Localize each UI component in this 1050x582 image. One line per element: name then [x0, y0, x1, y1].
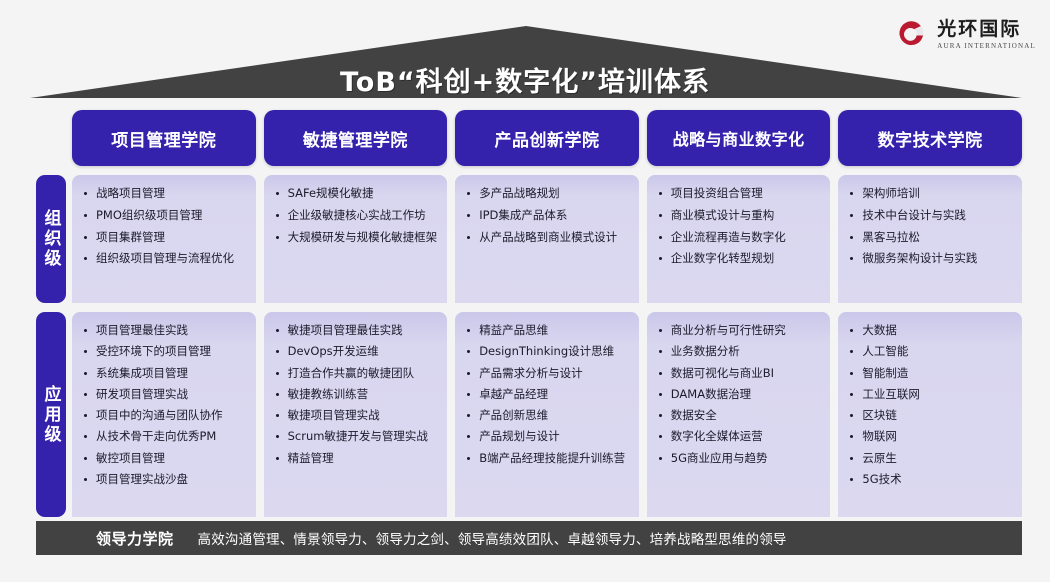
- course-item[interactable]: 项目投资组合管理: [657, 185, 825, 202]
- aura-swoosh-icon: [895, 18, 929, 52]
- academy-title-1[interactable]: 敏捷管理学院: [264, 110, 448, 166]
- org-panel-0: 战略项目管理PMO组织级项目管理项目集群管理组织级项目管理与流程优化: [72, 175, 256, 303]
- course-item[interactable]: 项目集群管理: [82, 229, 250, 246]
- course-item[interactable]: 业务数据分析: [657, 343, 825, 360]
- org-cell-1: SAFe规模化敏捷企业级敏捷核心实战工作坊大规模研发与规模化敏捷框架: [264, 175, 448, 303]
- brand-logo: 光环国际 AURA INTERNATIONAL: [895, 18, 1036, 52]
- org-panel-3: 项目投资组合管理商业模式设计与重构企业流程再造与数字化企业数字化转型规划: [647, 175, 831, 303]
- course-item[interactable]: 智能制造: [848, 365, 1016, 382]
- academy-column-1: 敏捷管理学院: [264, 110, 448, 166]
- course-item[interactable]: 战略项目管理: [82, 185, 250, 202]
- slide-canvas: 光环国际 AURA INTERNATIONAL ToB“科创+数字化”培训体系 …: [0, 0, 1050, 582]
- course-item[interactable]: 产品规划与设计: [465, 428, 633, 445]
- org-list-3: 项目投资组合管理商业模式设计与重构企业流程再造与数字化企业数字化转型规划: [657, 185, 825, 268]
- app-panel-3: 商业分析与可行性研究业务数据分析数据可视化与商业BIDAMA数据治理数据安全数字…: [647, 312, 831, 517]
- org-list-0: 战略项目管理PMO组织级项目管理项目集群管理组织级项目管理与流程优化: [82, 185, 250, 268]
- course-item[interactable]: 精益产品思维: [465, 322, 633, 339]
- course-item[interactable]: 数字化全媒体运营: [657, 428, 825, 445]
- academy-title-2[interactable]: 产品创新学院: [455, 110, 639, 166]
- level-rail-application: 应用级: [36, 312, 66, 517]
- app-panel-4: 大数据人工智能智能制造工业互联网区块链物联网云原生5G技术: [838, 312, 1022, 517]
- academy-column-3: 战略与商业数字化: [647, 110, 831, 166]
- org-cell-2: 多产品战略规划IPD集成产品体系从产品战略到商业模式设计: [455, 175, 639, 303]
- brand-name-cn: 光环国际: [937, 20, 1036, 39]
- academy-title-4[interactable]: 数字技术学院: [838, 110, 1022, 166]
- course-item[interactable]: 项目中的沟通与团队协作: [82, 407, 250, 424]
- academy-column-2: 产品创新学院: [455, 110, 639, 166]
- org-cell-4: 架构师培训技术中台设计与实践黑客马拉松微服务架构设计与实践: [838, 175, 1022, 303]
- course-item[interactable]: 5G商业应用与趋势: [657, 450, 825, 467]
- course-item[interactable]: PMO组织级项目管理: [82, 207, 250, 224]
- org-panel-2: 多产品战略规划IPD集成产品体系从产品战略到商业模式设计: [455, 175, 639, 303]
- application-level-row: 项目管理最佳实践受控环境下的项目管理系统集成项目管理研发项目管理实战项目中的沟通…: [72, 312, 1022, 517]
- leadership-courses: 高效沟通管理、情景领导力、领导力之剑、领导高绩效团队、卓越领导力、培养战略型思维…: [198, 528, 787, 548]
- course-item[interactable]: 黑客马拉松: [848, 229, 1016, 246]
- org-cell-0: 战略项目管理PMO组织级项目管理项目集群管理组织级项目管理与流程优化: [72, 175, 256, 303]
- course-item[interactable]: 架构师培训: [848, 185, 1016, 202]
- course-item[interactable]: 工业互联网: [848, 386, 1016, 403]
- course-item[interactable]: 物联网: [848, 428, 1016, 445]
- course-item[interactable]: 商业分析与可行性研究: [657, 322, 825, 339]
- course-item[interactable]: 区块链: [848, 407, 1016, 424]
- course-item[interactable]: 5G技术: [848, 471, 1016, 488]
- app-cell-2: 精益产品思维DesignThinking设计思维产品需求分析与设计卓越产品经理产…: [455, 312, 639, 517]
- academy-title-3[interactable]: 战略与商业数字化: [647, 110, 831, 166]
- org-cell-3: 项目投资组合管理商业模式设计与重构企业流程再造与数字化企业数字化转型规划: [647, 175, 831, 303]
- course-item[interactable]: SAFe规模化敏捷: [274, 185, 442, 202]
- course-item[interactable]: 敏捷项目管理最佳实践: [274, 322, 442, 339]
- course-item[interactable]: 企业数字化转型规划: [657, 250, 825, 267]
- course-item[interactable]: 项目管理实战沙盘: [82, 471, 250, 488]
- course-item[interactable]: 数据可视化与商业BI: [657, 365, 825, 382]
- app-cell-1: 敏捷项目管理最佳实践DevOps开发运维打造合作共赢的敏捷团队敏捷教练训练营敏捷…: [264, 312, 448, 517]
- course-item[interactable]: 数据安全: [657, 407, 825, 424]
- app-panel-0: 项目管理最佳实践受控环境下的项目管理系统集成项目管理研发项目管理实战项目中的沟通…: [72, 312, 256, 517]
- course-item[interactable]: B端产品经理技能提升训练营: [465, 450, 633, 467]
- academy-header-row: 项目管理学院 敏捷管理学院 产品创新学院 战略与商业数字化 数字技术学院: [72, 110, 1022, 166]
- course-item[interactable]: DevOps开发运维: [274, 343, 442, 360]
- course-item[interactable]: 产品需求分析与设计: [465, 365, 633, 382]
- course-item[interactable]: 企业流程再造与数字化: [657, 229, 825, 246]
- app-panel-1: 敏捷项目管理最佳实践DevOps开发运维打造合作共赢的敏捷团队敏捷教练训练营敏捷…: [264, 312, 448, 517]
- course-item[interactable]: 云原生: [848, 450, 1016, 467]
- course-item[interactable]: IPD集成产品体系: [465, 207, 633, 224]
- course-item[interactable]: 大规模研发与规模化敏捷框架: [274, 229, 442, 246]
- course-item[interactable]: 敏捷项目管理实战: [274, 407, 442, 424]
- app-panel-2: 精益产品思维DesignThinking设计思维产品需求分析与设计卓越产品经理产…: [455, 312, 639, 517]
- course-item[interactable]: 卓越产品经理: [465, 386, 633, 403]
- course-item[interactable]: Scrum敏捷开发与管理实战: [274, 428, 442, 445]
- level-rail-application-label: 应用级: [39, 385, 64, 445]
- page-title: ToB“科创+数字化”培训体系: [0, 60, 1050, 99]
- app-list-3: 商业分析与可行性研究业务数据分析数据可视化与商业BIDAMA数据治理数据安全数字…: [657, 322, 825, 467]
- level-rail-organization-label: 组织级: [39, 209, 64, 269]
- course-item[interactable]: 从技术骨干走向优秀PM: [82, 428, 250, 445]
- course-item[interactable]: 商业模式设计与重构: [657, 207, 825, 224]
- org-list-4: 架构师培训技术中台设计与实践黑客马拉松微服务架构设计与实践: [848, 185, 1016, 268]
- course-item[interactable]: 打造合作共赢的敏捷团队: [274, 365, 442, 382]
- course-item[interactable]: 多产品战略规划: [465, 185, 633, 202]
- app-cell-4: 大数据人工智能智能制造工业互联网区块链物联网云原生5G技术: [838, 312, 1022, 517]
- course-item[interactable]: 精益管理: [274, 450, 442, 467]
- course-item[interactable]: 技术中台设计与实践: [848, 207, 1016, 224]
- leadership-title: 领导力学院: [96, 528, 174, 549]
- app-list-4: 大数据人工智能智能制造工业互联网区块链物联网云原生5G技术: [848, 322, 1016, 488]
- brand-name-en: AURA INTERNATIONAL: [937, 43, 1036, 50]
- app-cell-3: 商业分析与可行性研究业务数据分析数据可视化与商业BIDAMA数据治理数据安全数字…: [647, 312, 831, 517]
- app-list-1: 敏捷项目管理最佳实践DevOps开发运维打造合作共赢的敏捷团队敏捷教练训练营敏捷…: [274, 322, 442, 467]
- academy-column-0: 项目管理学院: [72, 110, 256, 166]
- course-item[interactable]: 系统集成项目管理: [82, 365, 250, 382]
- course-item[interactable]: 受控环境下的项目管理: [82, 343, 250, 360]
- course-item[interactable]: 企业级敏捷核心实战工作坊: [274, 207, 442, 224]
- course-item[interactable]: 敏控项目管理: [82, 450, 250, 467]
- course-item[interactable]: 项目管理最佳实践: [82, 322, 250, 339]
- app-cell-0: 项目管理最佳实践受控环境下的项目管理系统集成项目管理研发项目管理实战项目中的沟通…: [72, 312, 256, 517]
- app-list-2: 精益产品思维DesignThinking设计思维产品需求分析与设计卓越产品经理产…: [465, 322, 633, 467]
- course-item[interactable]: 人工智能: [848, 343, 1016, 360]
- app-list-0: 项目管理最佳实践受控环境下的项目管理系统集成项目管理研发项目管理实战项目中的沟通…: [82, 322, 250, 488]
- course-item[interactable]: 产品创新思维: [465, 407, 633, 424]
- org-list-2: 多产品战略规划IPD集成产品体系从产品战略到商业模式设计: [465, 185, 633, 246]
- course-item[interactable]: 研发项目管理实战: [82, 386, 250, 403]
- course-item[interactable]: 组织级项目管理与流程优化: [82, 250, 250, 267]
- organization-level-row: 战略项目管理PMO组织级项目管理项目集群管理组织级项目管理与流程优化 SAFe规…: [72, 175, 1022, 303]
- course-item[interactable]: DesignThinking设计思维: [465, 343, 633, 360]
- academy-column-4: 数字技术学院: [838, 110, 1022, 166]
- course-item[interactable]: 大数据: [848, 322, 1016, 339]
- org-panel-4: 架构师培训技术中台设计与实践黑客马拉松微服务架构设计与实践: [838, 175, 1022, 303]
- course-item[interactable]: 敏捷教练训练营: [274, 386, 442, 403]
- leadership-bar: 领导力学院 高效沟通管理、情景领导力、领导力之剑、领导高绩效团队、卓越领导力、培…: [36, 521, 1022, 555]
- course-item[interactable]: 从产品战略到商业模式设计: [465, 229, 633, 246]
- org-list-1: SAFe规模化敏捷企业级敏捷核心实战工作坊大规模研发与规模化敏捷框架: [274, 185, 442, 246]
- level-rail-organization: 组织级: [36, 175, 66, 303]
- course-item[interactable]: 微服务架构设计与实践: [848, 250, 1016, 267]
- org-panel-1: SAFe规模化敏捷企业级敏捷核心实战工作坊大规模研发与规模化敏捷框架: [264, 175, 448, 303]
- course-item[interactable]: DAMA数据治理: [657, 386, 825, 403]
- academy-title-0[interactable]: 项目管理学院: [72, 110, 256, 166]
